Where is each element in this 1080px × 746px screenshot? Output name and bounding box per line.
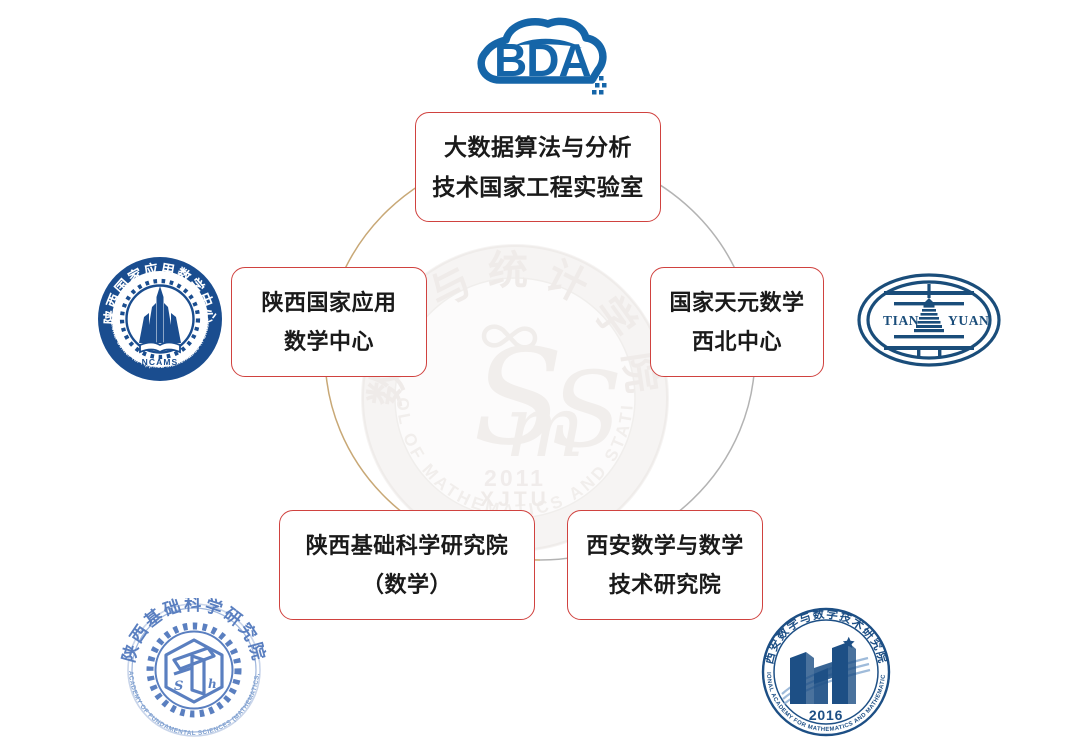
svg-text:XJTU: XJTU [480,488,550,511]
node-shaanxi-applied-math-center[interactable]: 陕西国家应用 数学中心 [231,267,427,377]
node-shaanxi-applied-math-center-line2: 数学中心 [284,330,374,353]
shaanxi-academy-gear-seal: 陕西基础科学研究院 SHAANXI ACADEMY OF FUNDAMENTAL… [112,598,284,738]
node-shaanxi-applied-math-center-line1: 陕西国家应用 [261,291,396,314]
svg-text:BDA: BDA [494,34,591,86]
node-shaanxi-academy-fundamental-sciences-line1: 陕西基础科学研究院 [306,534,509,557]
svg-text:S: S [473,321,563,475]
svg-text:NCAMS: NCAMS [142,357,179,367]
tianyuan-left-word: TIAN [883,313,919,328]
svg-text:2011: 2011 [484,465,546,491]
node-xian-academy-math-technology-line1: 西安数学与数学 [586,534,744,557]
node-tianyuan-northwest-center-line1: 国家天元数学 [669,291,804,314]
tianyuan-ellipse-pagoda-logo: TIAN YUAN [856,272,1002,368]
node-big-data-lab-line1: 大数据算法与分析 [444,135,632,159]
node-tianyuan-northwest-center-line2: 西北中心 [692,330,782,353]
tianyuan-right-word: YUAN [948,313,989,328]
node-big-data-lab-line2: 技术国家工程实验室 [432,175,644,199]
xiamath-year: 2016 [809,707,843,723]
node-xian-academy-math-technology-line2: 技术研究院 [609,573,722,596]
node-shaanxi-academy-fundamental-sciences-line2: （数学） [362,573,452,596]
bda-cloud-logo: BDA [466,14,618,112]
ncams-circular-seal: 陕西国家应用数学中心 National Center for Applied M… [96,255,224,383]
diagram-canvas: 数学与统计学院 SCHOOL OF MATHEMATICS AND STATIS… [0,0,1080,746]
node-tianyuan-northwest-center[interactable]: 国家天元数学 西北中心 [650,267,824,377]
xian-academy-circular-seal: · 西安数学与数学技术研究院 · XI' AN INTERNATIONAL AC… [752,602,900,742]
cube-letter-s: S [174,679,183,694]
svg-text:S: S [551,349,622,471]
svg-text:· 西安数学与数学技术研究院 ·: · 西安数学与数学技术研究院 · [752,602,891,670]
node-xian-academy-math-technology[interactable]: 西安数学与数学 技术研究院 [567,510,763,620]
svg-text:m: m [505,378,585,476]
node-big-data-lab[interactable]: 大数据算法与分析 技术国家工程实验室 [415,112,661,222]
node-shaanxi-academy-fundamental-sciences[interactable]: 陕西基础科学研究院 （数学） [279,510,535,620]
cube-letter-h: h [208,677,217,691]
